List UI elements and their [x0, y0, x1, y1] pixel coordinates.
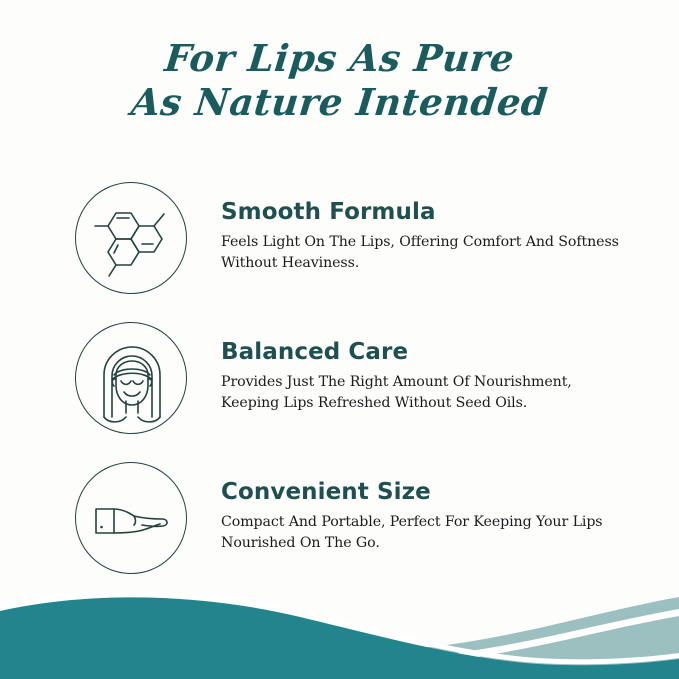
feature-title: Balanced Care	[221, 340, 621, 365]
headline-line-2: As Nature Intended	[0, 84, 679, 121]
face-icon	[75, 322, 187, 434]
feature-title: Convenient Size	[221, 480, 621, 505]
open-hand-icon	[75, 462, 187, 574]
feature-text-block: Convenient Size Compact And Portable, Pe…	[221, 480, 621, 553]
feature-description: Feels Light On The Lips, Offering Comfor…	[221, 232, 621, 273]
feature-item: Balanced Care Provides Just The Right Am…	[0, 322, 679, 442]
footer-wave-decoration	[0, 569, 679, 679]
page-title: For Lips As Pure As Nature Intended	[0, 40, 679, 121]
feature-item: Convenient Size Compact And Portable, Pe…	[0, 462, 679, 582]
product-feature-infographic: For Lips As Pure As Nature Intended	[0, 0, 679, 679]
feature-title: Smooth Formula	[221, 200, 621, 225]
headline-line-1: For Lips As Pure	[0, 40, 679, 77]
feature-text-block: Balanced Care Provides Just The Right Am…	[221, 340, 621, 413]
feature-item: Smooth Formula Feels Light On The Lips, …	[0, 182, 679, 302]
feature-description: Compact And Portable, Perfect For Keepin…	[221, 512, 621, 553]
feature-description: Provides Just The Right Amount Of Nouris…	[221, 372, 621, 413]
feature-text-block: Smooth Formula Feels Light On The Lips, …	[221, 200, 621, 273]
molecule-icon	[75, 182, 187, 294]
